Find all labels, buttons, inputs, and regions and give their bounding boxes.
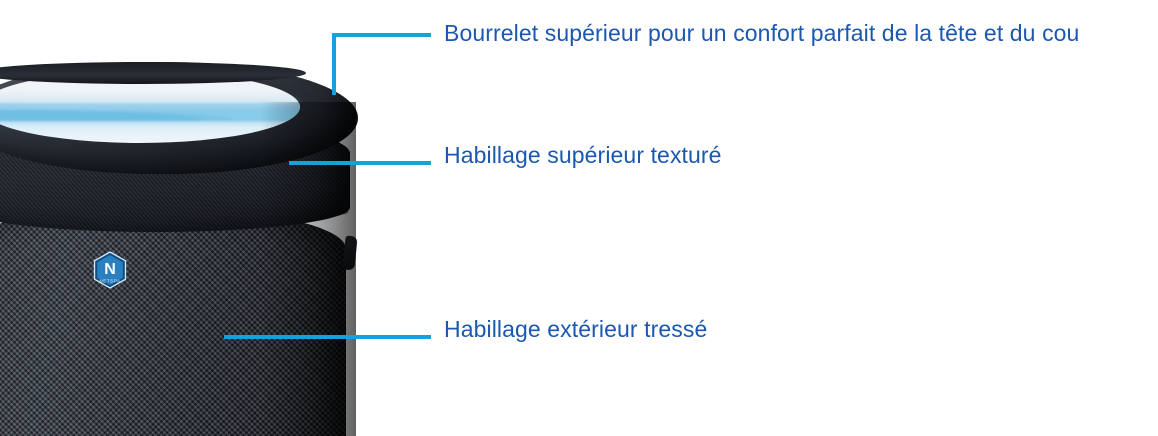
leader-line-callout-2-horizontal	[289, 161, 431, 165]
leader-line-callout-3-horizontal	[224, 335, 431, 339]
callout-label-upper-cladding: Habillage supérieur texturé	[444, 143, 722, 168]
brand-badge-netspa: N NETSPA	[93, 251, 127, 289]
callout-label-top-rim: Bourrelet supérieur pour un confort parf…	[444, 21, 1079, 46]
rim-inner-lip	[0, 62, 306, 84]
product-photo-spa: N NETSPA	[0, 0, 380, 436]
product-feature-diagram: N NETSPA Bourrelet supérieur pour un con…	[0, 0, 1158, 436]
badge-letter: N	[104, 261, 116, 278]
leader-line-callout-1-horizontal	[332, 33, 431, 37]
callout-label-outer-skirt: Habillage extérieur tressé	[444, 317, 707, 342]
spa-body: N NETSPA	[0, 62, 360, 436]
outer-braided-skirt	[0, 207, 346, 436]
side-carry-handle	[342, 235, 357, 270]
leader-line-callout-1-vertical	[332, 33, 336, 95]
badge-wordmark: NETSPA	[99, 278, 120, 283]
